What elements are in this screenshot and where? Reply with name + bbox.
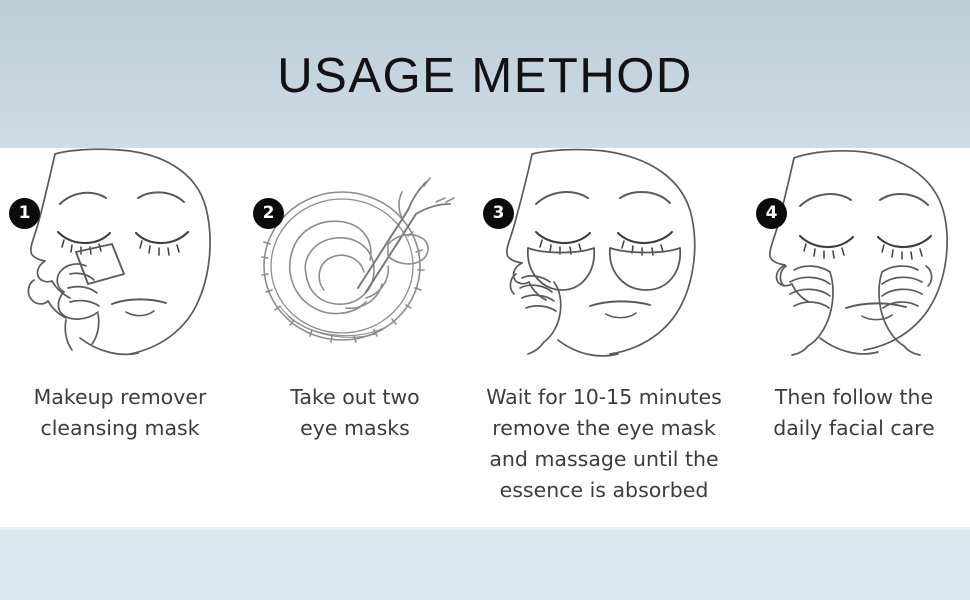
face-cleansing-pad-icon	[0, 148, 240, 360]
step-number-badge-4: 4	[756, 198, 787, 229]
footer-top-edge	[0, 527, 970, 530]
caption-line: cleansing mask	[6, 413, 234, 444]
steps-section: 1	[0, 148, 970, 527]
step-4-illustration: 4	[738, 148, 970, 360]
step-item-1: 1	[0, 148, 240, 527]
step-number-label: 2	[263, 205, 275, 222]
step-item-3: 3	[470, 148, 738, 527]
jar-tweezers-eye-mask-icon	[240, 148, 470, 360]
step-number-label: 1	[19, 205, 31, 222]
face-eye-masks-applied-icon	[470, 148, 738, 360]
usage-method-infographic: USAGE METHOD 1	[0, 0, 970, 600]
caption-line: Makeup remover	[6, 382, 234, 413]
caption-line: and massage until the	[476, 444, 732, 475]
caption-line: eye masks	[246, 413, 464, 444]
footer-banner	[0, 527, 970, 600]
step-3-caption: Wait for 10-15 minutes remove the eye ma…	[470, 382, 738, 506]
step-number-badge-3: 3	[483, 198, 514, 229]
header-banner: USAGE METHOD	[0, 0, 970, 148]
step-number-badge-2: 2	[253, 198, 284, 229]
page-title: USAGE METHOD	[277, 52, 692, 101]
step-number-label: 3	[493, 205, 505, 222]
step-4-caption: Then follow the daily facial care	[738, 382, 970, 444]
caption-line: Then follow the	[744, 382, 964, 413]
step-number-badge-1: 1	[9, 198, 40, 229]
caption-line: essence is absorbed	[476, 475, 732, 506]
caption-line: Wait for 10-15 minutes	[476, 382, 732, 413]
caption-line: daily facial care	[744, 413, 964, 444]
step-3-illustration: 3	[470, 148, 738, 360]
caption-line: Take out two	[246, 382, 464, 413]
face-two-hands-massage-icon	[738, 148, 970, 360]
caption-line: remove the eye mask	[476, 413, 732, 444]
step-2-illustration: 2	[240, 148, 470, 360]
step-item-4: 4	[738, 148, 970, 527]
step-2-caption: Take out two eye masks	[240, 382, 470, 444]
step-item-2: 2	[240, 148, 470, 527]
steps-row: 1	[0, 148, 970, 527]
step-1-illustration: 1	[0, 148, 240, 360]
step-number-label: 4	[766, 205, 778, 222]
step-1-caption: Makeup remover cleansing mask	[0, 382, 240, 444]
